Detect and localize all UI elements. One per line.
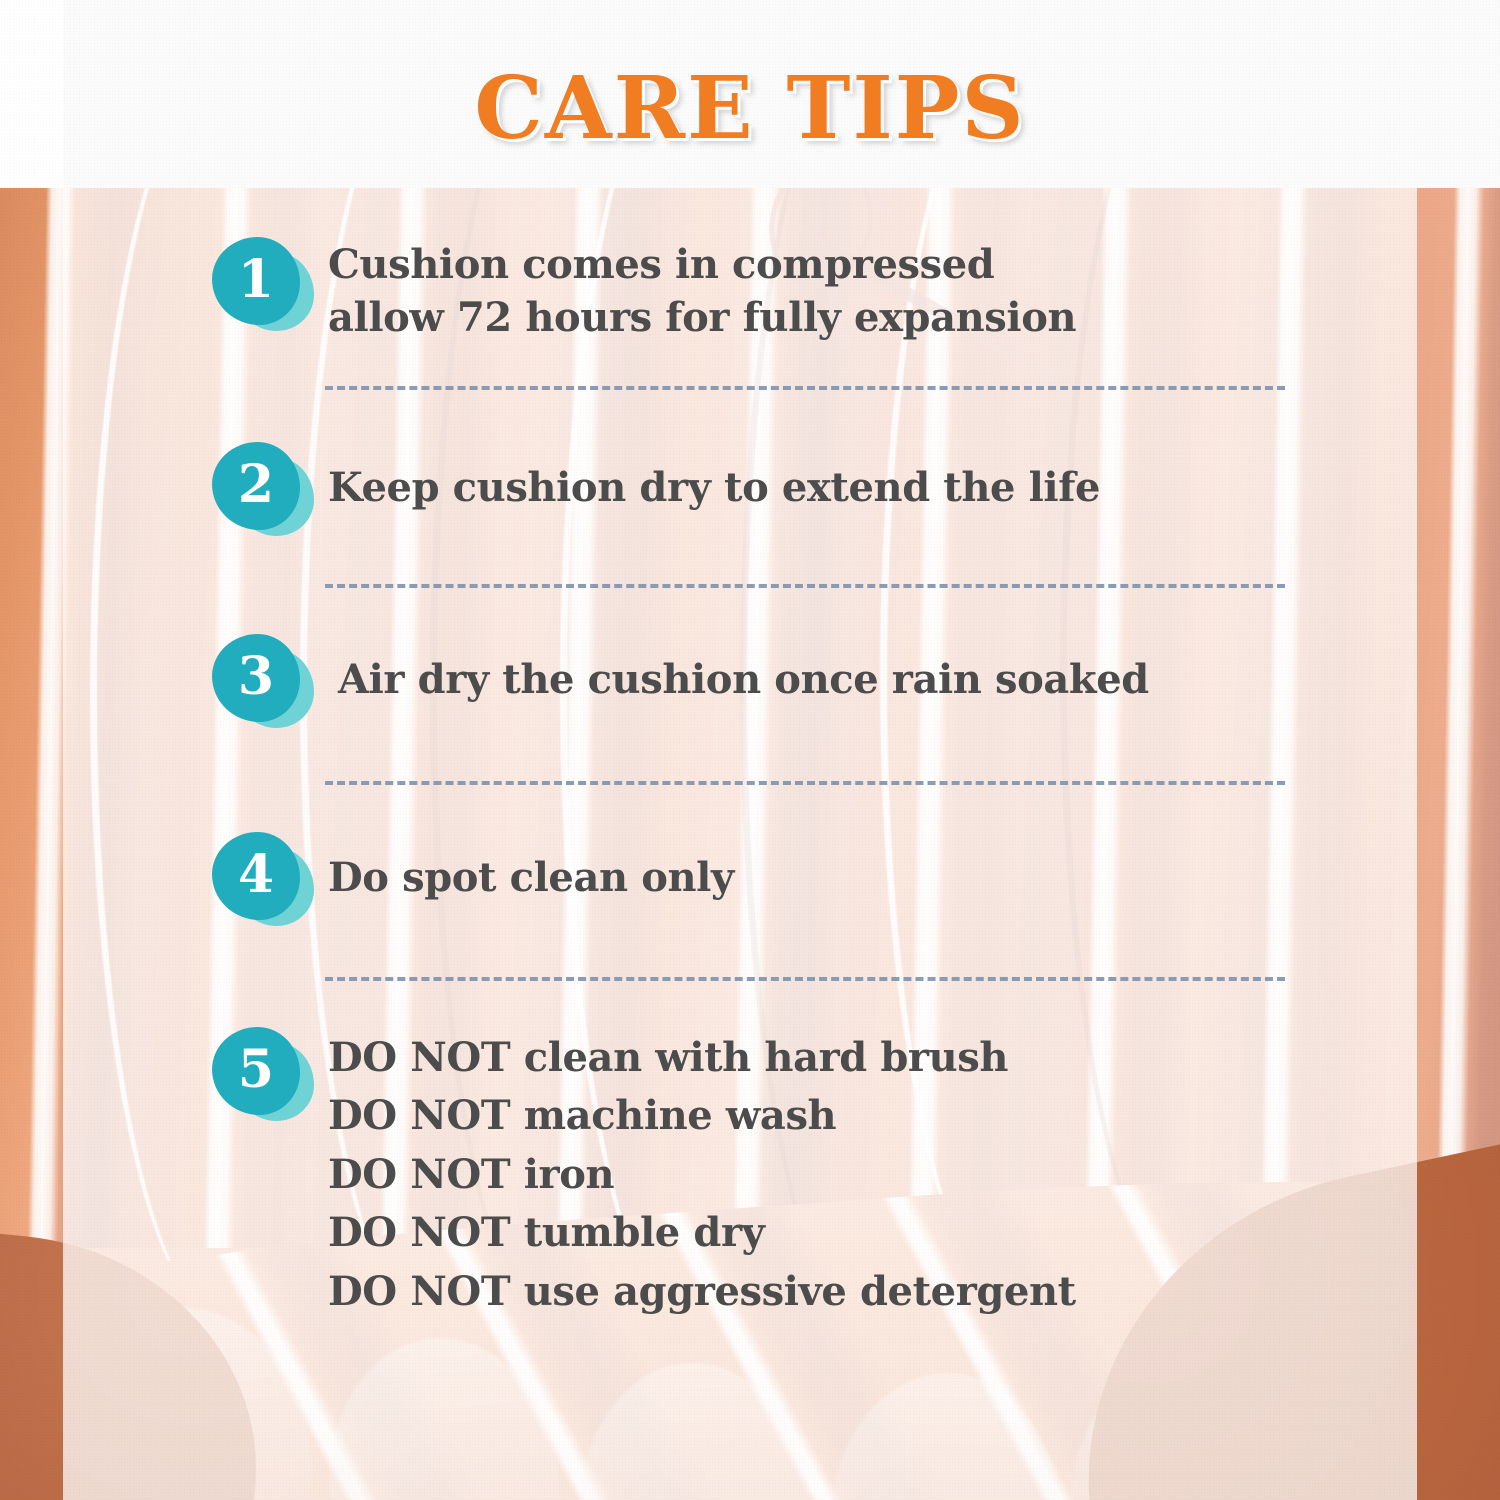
badge-blob: 3 — [212, 634, 300, 722]
badge-blob: 5 — [212, 1027, 300, 1115]
badge-number-label: 2 — [238, 459, 274, 511]
care-tips-infographic: CARE TIPS 1 Cushion comes in compressed … — [0, 0, 1500, 1500]
tip-divider-1 — [325, 386, 1285, 390]
tip-divider-2 — [325, 584, 1285, 588]
tip-number-badge-1: 1 — [208, 235, 314, 335]
tip-divider-3 — [325, 781, 1285, 785]
tip-text-2: Keep cushion dry to extend the life — [314, 440, 1100, 515]
tip-text-1: Cushion comes in compressed allow 72 hou… — [314, 235, 1076, 345]
tip-text-4: Do spot clean only — [314, 830, 734, 905]
tip-item-2: 2 Keep cushion dry to extend the life — [208, 440, 1100, 540]
tip-divider-4 — [325, 977, 1285, 981]
tip-number-badge-4: 4 — [208, 830, 314, 930]
badge-number-label: 1 — [238, 254, 274, 306]
badge-blob: 1 — [212, 237, 300, 325]
badge-blob: 2 — [212, 442, 300, 530]
badge-number-label: 4 — [238, 849, 274, 901]
badge-blob: 4 — [212, 832, 300, 920]
tip-number-badge-5: 5 — [208, 1025, 314, 1125]
tip-text-5: DO NOT clean with hard brush DO NOT mach… — [314, 1025, 1076, 1321]
tip-number-badge-3: 3 — [208, 632, 314, 732]
tip-text-3: Air dry the cushion once rain soaked — [314, 632, 1149, 707]
tip-item-5: 5 DO NOT clean with hard brush DO NOT ma… — [208, 1025, 1076, 1321]
badge-number-label: 3 — [238, 651, 274, 703]
tip-item-4: 4 Do spot clean only — [208, 830, 734, 930]
tip-item-1: 1 Cushion comes in compressed allow 72 h… — [208, 235, 1076, 345]
tip-item-3: 3 Air dry the cushion once rain soaked — [208, 632, 1149, 732]
tip-number-badge-2: 2 — [208, 440, 314, 540]
badge-number-label: 5 — [238, 1044, 274, 1096]
page-title: CARE TIPS — [0, 58, 1500, 159]
